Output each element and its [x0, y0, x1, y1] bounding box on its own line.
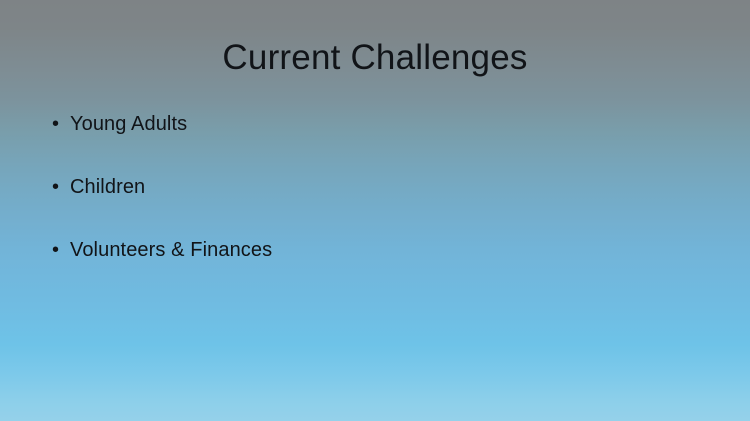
list-item: • Children — [52, 174, 692, 237]
bullet-dot-icon: • — [52, 174, 70, 201]
list-item: • Volunteers & Finances — [52, 237, 692, 300]
presentation-slide: Current Challenges • Young Adults • Chil… — [0, 0, 750, 421]
bullet-dot-icon: • — [52, 111, 70, 138]
bullet-list: • Young Adults • Children • Volunteers &… — [52, 111, 692, 300]
list-item-label: Children — [70, 174, 692, 201]
list-item: • Young Adults — [52, 111, 692, 174]
list-item-label: Volunteers & Finances — [70, 237, 692, 264]
bullet-dot-icon: • — [52, 237, 70, 264]
page-title: Current Challenges — [0, 40, 750, 77]
list-item-label: Young Adults — [70, 111, 692, 138]
